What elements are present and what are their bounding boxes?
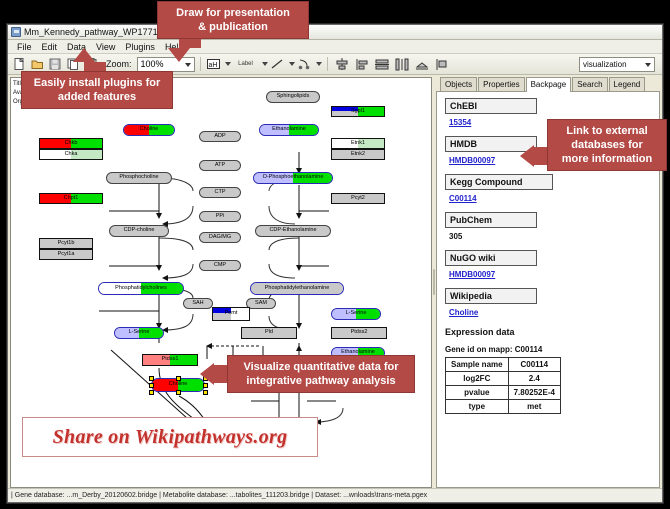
gene-chpt1[interactable]: Chpt1 — [39, 193, 103, 204]
cofactor-sah[interactable]: SAH — [183, 298, 213, 309]
gene-ptdss2[interactable]: Ptdss2 — [331, 327, 387, 339]
metabolite-cdp-ethanolamine[interactable]: CDP-Ethanolamine — [255, 225, 331, 237]
cofactor-dag-mg[interactable]: DAG/MG — [199, 232, 241, 243]
node-label: Pcyt2 — [351, 196, 365, 202]
zoom-value: 100% — [141, 59, 164, 69]
menu-plugins[interactable]: Plugins — [120, 40, 160, 54]
callout-link-line2: databases for — [554, 138, 660, 152]
open-file-icon[interactable] — [29, 56, 45, 72]
callout-plugins-line1: Easily install plugins for — [28, 76, 166, 90]
menu-file[interactable]: File — [12, 40, 37, 54]
gene-etnk1[interactable]: Etnk1 — [331, 138, 385, 149]
callout-draw: Draw for presentation & publication — [158, 2, 308, 38]
share-banner: Share on Wikipathways.org — [22, 417, 318, 457]
kegg-header: Kegg Compound — [445, 174, 553, 190]
expression-row-value: 7.80252E-4 — [508, 386, 560, 400]
callout-plugins-line2: added features — [28, 90, 166, 104]
metabolite-sphingolipids[interactable]: Sphingolipids — [266, 91, 320, 103]
expression-row-value: 2.4 — [508, 372, 560, 386]
node-label: Ptdss2 — [351, 330, 368, 336]
node-label: ATP — [215, 163, 225, 169]
expression-table-row: Sample nameC00114 — [446, 358, 561, 372]
save-file-icon[interactable] — [47, 56, 63, 72]
callout-plugins: Easily install plugins for added feature… — [22, 72, 172, 108]
chevron-down-icon — [185, 63, 191, 67]
node-label: ADP — [214, 134, 225, 140]
metabolite-l-serine[interactable]: L-Serine — [114, 327, 164, 339]
chevron-down-icon[interactable] — [225, 62, 231, 66]
pubchem-header: PubChem — [445, 212, 537, 228]
metabolite-phosphatidylethanolamine[interactable]: Phosphatidylethanolamine — [250, 282, 344, 295]
statusbar-text: | Gene database: ...m_Derby_20120602.bri… — [11, 492, 427, 499]
statusbar: | Gene database: ...m_Derby_20120602.bri… — [8, 488, 662, 502]
menu-edit[interactable]: Edit — [37, 40, 63, 54]
callout-link-line1: Link to external — [554, 124, 660, 138]
expression-table-row: log2FC2.4 — [446, 372, 561, 386]
toolbar-separator — [200, 57, 201, 71]
node-label: Choline — [140, 127, 159, 133]
pathvisio-icon — [11, 27, 21, 37]
cofactor-atp[interactable]: ATP — [199, 160, 241, 171]
callout-link-arrow — [520, 145, 534, 167]
node-label: PPi — [216, 214, 225, 220]
align-left-icon[interactable] — [353, 56, 371, 72]
metabolite-phosphocholine[interactable]: Phosphocholine — [106, 172, 172, 184]
kegg-link[interactable]: C00114 — [449, 194, 477, 203]
node-label: Pemt — [225, 311, 238, 317]
chevron-down-icon[interactable] — [316, 62, 322, 66]
metabolite-ethanolamine[interactable]: Ethanolamine — [259, 124, 319, 136]
node-label: CDP-choline — [124, 228, 155, 234]
cofactor-sam[interactable]: SAM — [246, 298, 276, 309]
expression-row-key: pvalue — [446, 386, 509, 400]
node-label: Ethanolamine — [341, 350, 375, 356]
selection-handle[interactable] — [149, 383, 154, 388]
cofactor-cmp[interactable]: CMP — [199, 260, 241, 271]
node-label: Chpt1 — [64, 196, 79, 202]
tab-legend[interactable]: Legend — [609, 77, 646, 91]
gene-pld[interactable]: Pld — [241, 327, 297, 339]
node-label: L-Serine — [129, 330, 150, 336]
node-label: Etnk1 — [351, 141, 365, 147]
node-label: Sgpl1 — [351, 109, 365, 115]
callout-draw-line1: Draw for presentation — [164, 6, 302, 20]
metabolite-choline[interactable]: Choline — [123, 124, 175, 136]
nugo-header: NuGO wiki — [445, 250, 537, 266]
callout-visualize-line2: integrative pathway analysis — [234, 374, 408, 388]
pubchem-value: 305 — [449, 232, 462, 241]
shape-tool-icon[interactable] — [297, 56, 313, 72]
zoom-label: Zoom: — [106, 59, 132, 69]
label-tool-text: Label — [238, 61, 253, 67]
splitter-grip — [433, 269, 435, 295]
line-tool-icon[interactable] — [270, 56, 286, 72]
node-label: Sphingolipids — [277, 94, 310, 100]
cofactor-ppi[interactable]: PPi — [199, 211, 241, 222]
chevron-down-icon — [645, 63, 651, 67]
gene-ptdss1[interactable]: Ptdss1 — [142, 354, 198, 366]
expression-data-table: Sample nameC00114log2FC2.4pvalue7.80252E… — [445, 357, 561, 414]
share-text: Share on Wikipathways.org — [53, 426, 288, 449]
node-label: Ptdss1 — [162, 357, 179, 363]
chevron-down-icon[interactable] — [262, 62, 268, 66]
wikipedia-link[interactable]: Choline — [449, 308, 478, 317]
callout-link: Link to external databases for more info… — [548, 120, 666, 170]
node-label: L-Serine — [346, 311, 367, 317]
gene-pcyt2[interactable]: Pcyt2 — [331, 193, 385, 204]
node-label: Phosphocholine — [119, 175, 158, 181]
visualization-value: visualization — [583, 60, 627, 69]
selection-handle[interactable] — [149, 390, 154, 395]
node-label: Pcyt1a — [58, 252, 75, 258]
callout-visualize-line1: Visualize quantitative data for — [234, 360, 408, 374]
visualization-combo[interactable]: visualization — [579, 57, 655, 72]
align-center-icon[interactable] — [333, 56, 351, 72]
expression-table-row: typemet — [446, 400, 561, 414]
node-label: Phosphatidylcholines — [115, 286, 167, 292]
node-label: CMP — [214, 263, 226, 269]
node-label: DAG/MG — [209, 235, 231, 241]
metabolite-l-serine[interactable]: L-Serine — [331, 308, 381, 320]
node-label: CDP-Ethanolamine — [269, 228, 316, 234]
menubar: File Edit Data View Plugins Help — [8, 40, 662, 54]
node-label: Ethanolamine — [272, 127, 306, 133]
node-label: Phosphatidylethanolamine — [265, 286, 330, 292]
menu-view[interactable]: View — [91, 40, 120, 54]
metabolite-o-phosphoethanolamine[interactable]: O-Phosphoethanolamine — [253, 172, 333, 184]
node-label: O-Phosphoethanolamine — [263, 175, 324, 181]
gene-chkb[interactable]: Chkb — [39, 138, 103, 149]
node-label: Chkb — [65, 141, 78, 147]
cofactor-adp[interactable]: ADP — [199, 131, 241, 142]
expression-row-key: Sample name — [446, 358, 509, 372]
toolbar-separator — [327, 57, 328, 71]
gene-pcyt1a[interactable]: Pcyt1a — [39, 249, 93, 260]
node-label: Etnk2 — [351, 152, 365, 158]
gene-id-line: Gene id on mapp: C00114 — [445, 345, 651, 354]
tab-search[interactable]: Search — [572, 77, 607, 91]
callout-plugins-arrow — [73, 48, 95, 62]
callout-visualize: Visualize quantitative data for integrat… — [228, 356, 414, 392]
node-label: CTP — [215, 190, 226, 196]
expression-row-value: C00114 — [508, 358, 560, 372]
tab-backpage[interactable]: Backpage — [526, 77, 572, 92]
selection-handle[interactable] — [176, 376, 181, 381]
nugo-link[interactable]: HMDB00097 — [449, 270, 495, 279]
expression-table-row: pvalue7.80252E-4 — [446, 386, 561, 400]
node-fill-right — [269, 328, 296, 338]
svg-text:aH: aH — [209, 62, 218, 69]
chevron-down-icon[interactable] — [289, 62, 295, 66]
gene-sgpl1[interactable]: Sgpl1 — [331, 106, 385, 117]
order-icon[interactable] — [433, 56, 451, 72]
expression-data-title: Expression data — [445, 327, 651, 337]
metabolite-phosphatidylcholines[interactable]: Phosphatidylcholines — [98, 282, 184, 295]
gene-chka[interactable]: Chka — [39, 149, 103, 160]
gene-pemt[interactable]: Pemt — [212, 307, 250, 321]
selection-handle[interactable] — [149, 376, 154, 381]
chebi-link[interactable]: 15354 — [449, 118, 471, 127]
callout-link-line3: more information — [554, 152, 660, 166]
node-label: SAH — [192, 301, 203, 307]
callout-visualize-arrow — [200, 363, 214, 385]
chebi-header: ChEBI — [445, 98, 537, 114]
expression-row-value: met — [508, 400, 560, 414]
expression-row-key: type — [446, 400, 509, 414]
callout-draw-line2: & publication — [164, 20, 302, 34]
screenshot-root: Mm_Kennedy_pathway_WP1771_45176.gpml Fil… — [0, 0, 670, 509]
selection-handle[interactable] — [176, 390, 181, 395]
node-label: Choline — [169, 382, 188, 388]
node-label: Pcyt1b — [58, 241, 75, 247]
selection-handle[interactable] — [203, 390, 208, 395]
tab-objects[interactable]: Objects — [440, 77, 477, 91]
node-label: SAM — [255, 301, 267, 307]
stack-icon[interactable] — [413, 56, 431, 72]
cofactor-ctp[interactable]: CTP — [199, 187, 241, 198]
datanode-tool-icon[interactable]: aH — [206, 56, 222, 72]
hmdb-link[interactable]: HMDB00097 — [449, 156, 495, 165]
callout-draw-arrow — [168, 48, 190, 62]
distribute-vertical-icon[interactable] — [373, 56, 391, 72]
side-panel-tabs: Objects Properties Backpage Search Legen… — [436, 77, 660, 92]
new-file-icon[interactable] — [11, 56, 27, 72]
expression-table-body: Sample nameC00114log2FC2.4pvalue7.80252E… — [446, 358, 561, 414]
gene-pcyt1b[interactable]: Pcyt1b — [39, 238, 93, 249]
tab-properties[interactable]: Properties — [478, 77, 524, 91]
metabolite-cdp-choline[interactable]: CDP-choline — [109, 225, 169, 237]
expression-row-key: log2FC — [446, 372, 509, 386]
gene-etnk2[interactable]: Etnk2 — [331, 149, 385, 160]
label-tool-icon[interactable]: Label — [233, 56, 259, 72]
wikipedia-header: Wikipedia — [445, 288, 537, 304]
distribute-horizontal-icon[interactable] — [393, 56, 411, 72]
node-label: Pld — [265, 330, 273, 336]
node-label: Chka — [65, 152, 78, 158]
window-titlebar: Mm_Kennedy_pathway_WP1771_45176.gpml — [8, 25, 662, 40]
